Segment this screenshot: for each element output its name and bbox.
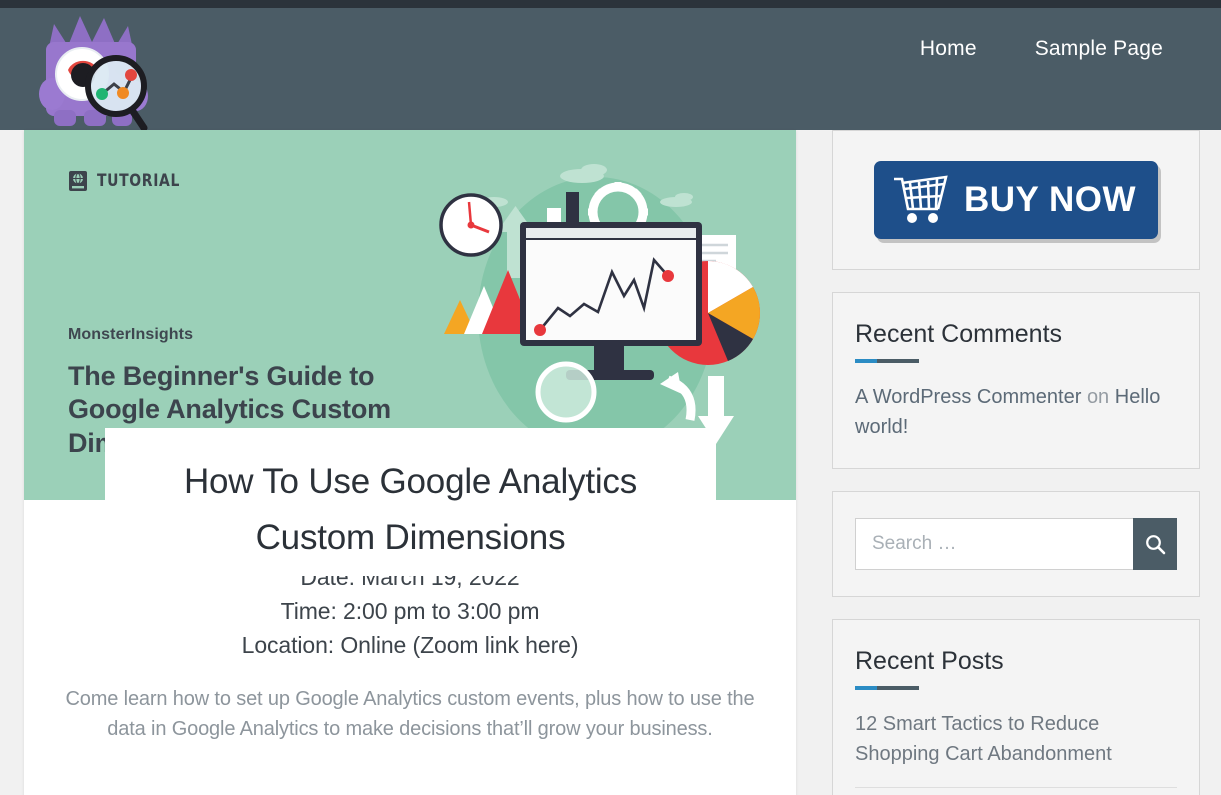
event-location: Location: Online (Zoom link here) — [58, 628, 762, 662]
recent-comment-item: A WordPress Commenter on Hello world! — [855, 383, 1177, 442]
widget-recent-posts: Recent Posts 12 Smart Tactics to Reduce … — [832, 619, 1200, 795]
shopping-cart-icon — [890, 173, 950, 225]
top-strip — [0, 0, 1221, 8]
list-divider — [855, 787, 1177, 788]
post-title-box: How To Use Google Analytics Custom Dimen… — [105, 428, 716, 576]
search-form — [855, 518, 1177, 570]
buy-now-button[interactable]: BUY NOW — [874, 161, 1158, 239]
comment-author-link[interactable]: A WordPress Commenter — [855, 386, 1081, 408]
monsterinsights-logo-icon — [28, 12, 154, 136]
widget-search — [832, 491, 1200, 597]
search-input[interactable] — [855, 518, 1133, 570]
nav-item-sample-page[interactable]: Sample Page — [1023, 30, 1175, 67]
post-excerpt: Come learn how to set up Google Analytic… — [58, 684, 762, 745]
search-submit-button[interactable] — [1133, 518, 1177, 570]
widget-recent-comments: Recent Comments A WordPress Commenter on… — [832, 292, 1200, 469]
sidebar: BUY NOW Recent Comments A WordPress Comm… — [832, 130, 1200, 795]
content-area: TUTORIAL MonsterInsights The Beginner's … — [0, 130, 1221, 795]
primary-navigation: Home Sample Page — [908, 30, 1175, 67]
comment-connector: on — [1087, 386, 1109, 408]
featured-brand: MonsterInsights — [68, 326, 193, 344]
title-underline-accent — [855, 686, 919, 690]
title-underline-accent — [855, 359, 919, 363]
widget-advertisement: BUY NOW — [832, 130, 1200, 270]
post-card: TUTORIAL MonsterInsights The Beginner's … — [24, 130, 796, 795]
recent-post-link[interactable]: 12 Smart Tactics to Reduce Shopping Cart… — [855, 713, 1112, 765]
recent-comments-title: Recent Comments — [855, 319, 1177, 359]
site-logo[interactable] — [28, 12, 154, 136]
tutorial-badge: TUTORIAL — [68, 170, 198, 192]
search-icon — [1145, 534, 1166, 555]
post-body: Date: March 19, 2022 Time: 2:00 pm to 3:… — [24, 560, 796, 745]
nav-item-home[interactable]: Home — [908, 30, 989, 67]
book-globe-icon — [68, 170, 88, 192]
page-title: How To Use Google Analytics Custom Dimen… — [135, 454, 686, 566]
recent-posts-title: Recent Posts — [855, 646, 1177, 686]
event-time: Time: 2:00 pm to 3:00 pm — [58, 594, 762, 628]
site-header: Home Sample Page — [0, 8, 1221, 130]
page-root: Home Sample Page TUTORIAL MonsterIn — [0, 0, 1221, 795]
buy-now-label: BUY NOW — [964, 182, 1136, 217]
tutorial-badge-label: TUTORIAL — [97, 171, 180, 191]
